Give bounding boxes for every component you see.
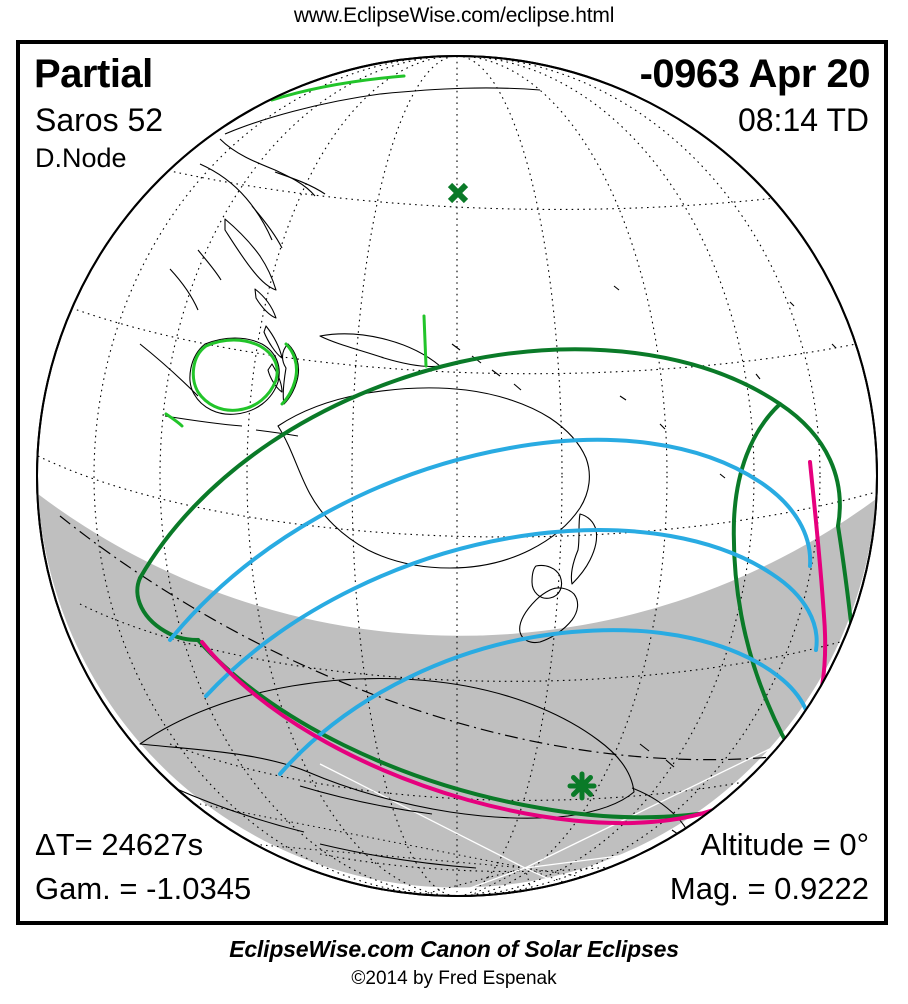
globe-svg bbox=[20, 44, 884, 921]
delta-t-label: ΔT= 24627s bbox=[35, 827, 203, 863]
globe-stage bbox=[20, 44, 884, 921]
gamma-label: Gam. = -1.0345 bbox=[35, 871, 251, 907]
node-label: D.Node bbox=[35, 143, 127, 174]
altitude-label: Altitude = 0° bbox=[701, 827, 869, 863]
eclipse-date-label: -0963 Apr 20 bbox=[640, 52, 870, 97]
magnitude-label: Mag. = 0.9222 bbox=[670, 871, 869, 907]
saros-label: Saros 52 bbox=[35, 102, 163, 139]
eclipse-type-label: Partial bbox=[34, 52, 153, 97]
copyright-credit: ©2014 by Fred Espenak bbox=[0, 968, 908, 990]
eclipse-map-panel: Partial Saros 52 D.Node -0963 Apr 20 08:… bbox=[16, 40, 888, 925]
greatest-eclipse-marker bbox=[570, 774, 594, 798]
canon-title: EclipseWise.com Canon of Solar Eclipses bbox=[0, 936, 908, 963]
eclipse-time-label: 08:14 TD bbox=[738, 102, 869, 139]
site-url: www.EclipseWise.com/eclipse.html bbox=[0, 4, 908, 28]
